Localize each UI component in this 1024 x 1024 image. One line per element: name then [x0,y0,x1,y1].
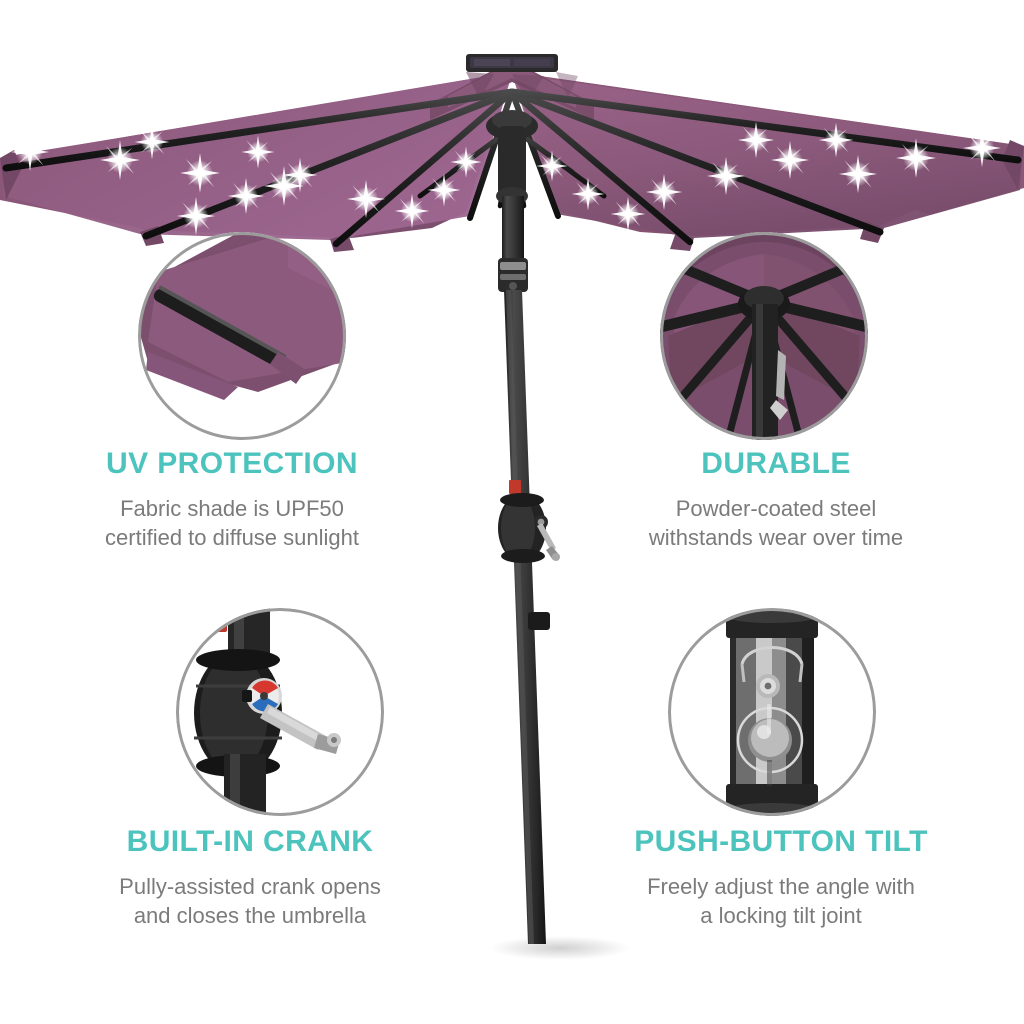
feature-title: DURABLE [566,447,986,480]
feature-uv-protection: UV PROTECTION Fabric shade is UPF50 cert… [22,447,442,553]
inset-canopy-fabric-rib-closeup [138,232,346,440]
feature-description-line2: withstands wear over time [649,525,903,550]
product-infographic: UV PROTECTION Fabric shade is UPF50 cert… [0,0,1024,1024]
umbrella-hub [486,110,538,205]
inset-canopy-underside-hub-closeup [660,232,868,440]
feature-description-line2: and closes the umbrella [134,903,366,928]
crank-housing-on-pole [498,493,560,563]
inset-crank-handle-closeup [176,608,384,816]
feature-title: BUILT-IN CRANK [30,825,470,858]
feature-push-button-tilt: PUSH-BUTTON TILT Freely adjust the angle… [556,825,1006,931]
feature-description-line2: a locking tilt joint [700,903,861,928]
feature-title: PUSH-BUTTON TILT [556,825,1006,858]
feature-description-line1: Freely adjust the angle with [647,874,915,899]
feature-description-line1: Powder-coated steel [676,496,877,521]
feature-description: Powder-coated steel withstands wear over… [566,494,986,553]
tilt-joint-on-pole [498,258,528,292]
feature-built-in-crank: BUILT-IN CRANK Pully-assisted crank open… [30,825,470,931]
feature-title: UV PROTECTION [22,447,442,480]
feature-durable: DURABLE Powder-coated steel withstands w… [566,447,986,553]
inset-tilt-joint-closeup [668,608,876,816]
feature-description-line1: Pully-assisted crank opens [119,874,381,899]
feature-description-line2: certified to diffuse sunlight [105,525,359,550]
feature-description-line1: Fabric shade is UPF50 [120,496,344,521]
feature-description: Freely adjust the angle with a locking t… [556,872,1006,931]
feature-description: Pully-assisted crank opens and closes th… [30,872,470,931]
feature-description: Fabric shade is UPF50 certified to diffu… [22,494,442,553]
warning-label-upper [509,480,521,494]
